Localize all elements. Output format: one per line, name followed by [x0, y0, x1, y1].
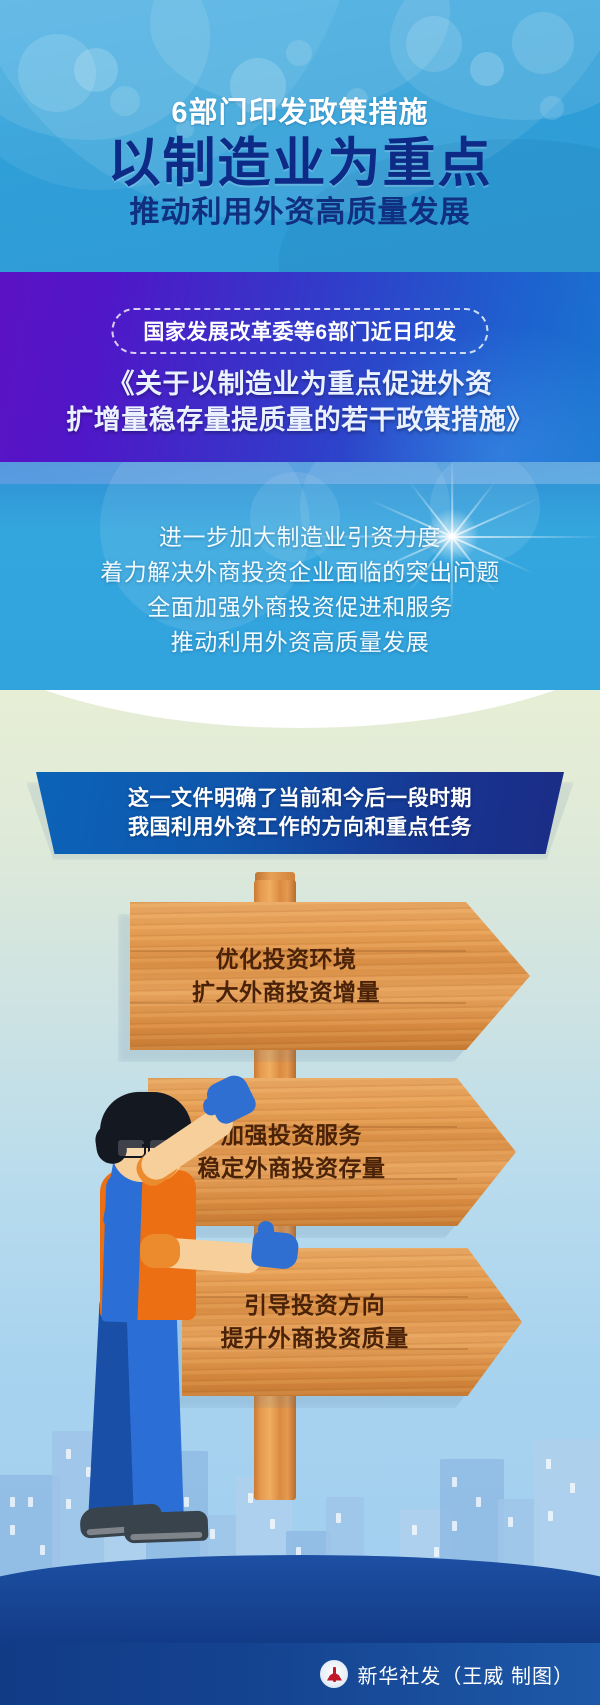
- objective-item: 推动利用外资高质量发展: [0, 625, 600, 660]
- ribbon-line-2: 我国利用外资工作的方向和重点任务: [128, 813, 472, 842]
- arc-white-decoration: [0, 690, 600, 728]
- signpost-1-text: 优化投资环境 扩大外商投资增量: [130, 902, 442, 1050]
- footer-credit: 新华社发（王威 制图）: [357, 1660, 574, 1689]
- objectives-section: 进一步加大制造业引资力度 着力解决外商投资企业面临的突出问题 全面加强外商投资促…: [0, 462, 600, 690]
- footer-bar: 新华社发（王威 制图）: [0, 1643, 600, 1705]
- objectives-list: 进一步加大制造业引资力度 着力解决外商投资企业面临的突出问题 全面加强外商投资促…: [0, 520, 600, 660]
- hero-subtitle: 推动利用外资高质量发展: [0, 196, 600, 230]
- objective-item: 全面加强外商投资促进和服务: [0, 590, 600, 625]
- xinhua-logo-icon: [320, 1660, 348, 1688]
- hero-eyebrow: 6部门印发政策措施: [0, 98, 600, 130]
- hero-text-block: 6部门印发政策措施 以制造业为重点 推动利用外资高质量发展: [0, 0, 600, 229]
- issuer-pill: 国家发展改革委等6部门近日印发: [111, 308, 488, 354]
- document-title-line-2: 扩增量稳存量提质量的若干政策措施》: [0, 402, 600, 438]
- document-title-line-1: 《关于以制造业为重点促进外资: [0, 366, 600, 402]
- worker-illustration: [60, 1040, 290, 1570]
- document-title: 《关于以制造业为重点促进外资 扩增量稳存量提质量的若干政策措施》: [0, 366, 600, 438]
- signpost-1-line-1: 优化投资环境: [216, 943, 357, 976]
- signpost-1-line-2: 扩大外商投资增量: [192, 976, 380, 1009]
- worker-shoe-front: [124, 1511, 209, 1544]
- worker-sleeve-forward: [140, 1234, 180, 1268]
- signpost-1: 优化投资环境 扩大外商投资增量: [130, 902, 530, 1050]
- objective-item: 进一步加大制造业引资力度: [0, 520, 600, 555]
- worker-glove-forward: [250, 1230, 300, 1271]
- ribbon-text: 这一文件明确了当前和今后一段时期 我国利用外资工作的方向和重点任务: [36, 772, 564, 854]
- hero-title: 以制造业为重点: [0, 136, 600, 192]
- infographic-poster: 6部门印发政策措施 以制造业为重点 推动利用外资高质量发展 国家发展改革委等6部…: [0, 0, 600, 1705]
- ribbon-line-1: 这一文件明确了当前和今后一段时期: [128, 784, 472, 813]
- objective-item: 着力解决外商投资企业面临的突出问题: [0, 555, 600, 590]
- issuer-section: 国家发展改革委等6部门近日印发 《关于以制造业为重点促进外资 扩增量稳存量提质量…: [0, 272, 600, 462]
- hero-section: 6部门印发政策措施 以制造业为重点 推动利用外资高质量发展: [0, 0, 600, 272]
- worker-leg-front: [126, 1291, 184, 1527]
